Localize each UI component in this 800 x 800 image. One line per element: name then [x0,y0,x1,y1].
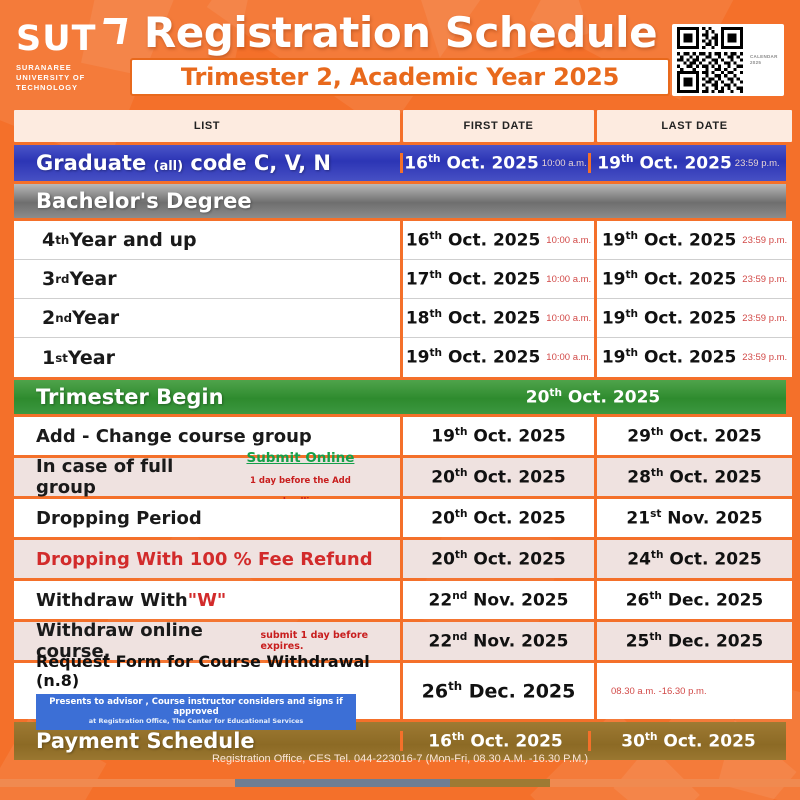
bachelor-year-rows: 4th Year and up16th Oct. 202510:00 a.m.1… [14,221,786,377]
year-first-date: 19th Oct. 202510:00 a.m. [403,338,594,377]
year-last-date: 19th Oct. 202523:59 p.m. [597,338,792,377]
request-form-date-cell: 26th Dec. 2025 [403,663,594,719]
trimester-begin-row: Trimester Begin 20th Oct. 2025 [14,380,786,414]
row-last-date: 24th Oct. 2025 [597,540,792,578]
year-first-date: 18th Oct. 202510:00 a.m. [403,299,594,338]
payment-last-date: 30th Oct. 2025 [591,731,786,752]
schedule-table: LIST FIRST DATE LAST DATE Graduate (all)… [14,110,786,763]
qr-code-block[interactable]: CALENDAR2025 [672,24,784,96]
payment-schedule-label: Payment Schedule [14,729,400,753]
year-first-date: 17th Oct. 202510:00 a.m. [403,260,594,299]
row-label-cell: In case of full groupSubmit Online1 day … [14,458,400,496]
row-label: Dropping Period [36,508,202,529]
submit-online-link[interactable]: Submit Online [246,450,354,466]
year-last-date: 19th Oct. 202523:59 p.m. [597,221,792,260]
request-form-label-cell: Request Form for Course Withdrawal (n.8)… [14,663,400,719]
column-header-last-date: LAST DATE [597,110,792,142]
year-label: 2nd Year [14,299,400,338]
sut-logo: SUT SURANAREEUNIVERSITY OFTECHNOLOGY [16,22,126,93]
graduate-row: Graduate (all) code C, V, N 16th Oct. 20… [14,145,786,181]
bottom-bar-segment-4 [550,779,800,787]
row-label-note: submit 1 day before expires. [260,630,400,652]
row-last-date: 26th Dec. 2025 [597,581,792,619]
poster-header: SUT SURANAREEUNIVERSITY OFTECHNOLOGY Reg… [0,0,800,108]
subtitle-bar: Trimester 2, Academic Year 2025 [130,58,670,96]
year-label: 3rd Year [14,260,400,299]
bachelor-year-row: 1st Year19th Oct. 202510:00 a.m.19th Oct… [14,338,786,377]
row-last-date: 25th Dec. 2025 [597,622,792,660]
schedule-row: Withdraw With "W"22nd Nov. 202526th Dec.… [14,581,786,619]
bachelor-degree-label: Bachelor's Degree [14,189,400,213]
row-label-cell: Dropping With 100 % Fee Refund [14,540,400,578]
row-label: In case of full group [36,456,231,498]
page-title: Registration Schedule [128,8,673,57]
request-form-time-cell: 08.30 a.m. -16.30 p.m. [597,663,792,719]
graduate-last-date: 19th Oct. 2025 23:59 p.m. [591,153,786,174]
logo-wordmark: SUT [16,19,97,59]
graduate-first-date: 16th Oct. 2025 10:00 a.m. [400,153,591,174]
table-header-row: LIST FIRST DATE LAST DATE [14,110,786,142]
row-first-date: 20th Oct. 2025 [403,499,594,537]
graduate-label: Graduate (all) code C, V, N [14,151,400,175]
graduate-label-paren: (all) [154,159,184,174]
column-header-list: LIST [14,110,400,142]
graduate-label-rest: code C, V, N [190,151,331,175]
schedule-row: In case of full groupSubmit Online1 day … [14,458,786,496]
year-first-date: 16th Oct. 202510:00 a.m. [403,221,594,260]
row-label-quoted: "W" [188,590,227,611]
year-last-date: 19th Oct. 202523:59 p.m. [597,299,792,338]
row-first-date: 20th Oct. 2025 [403,540,594,578]
bottom-bar-segment-3 [450,779,550,787]
row-first-date: 22nd Nov. 2025 [403,622,594,660]
footer-contact: Registration Office, CES Tel. 044-223016… [0,753,800,765]
request-form-row: Request Form for Course Withdrawal (n.8)… [14,663,786,719]
row-label: Add - Change course group [36,426,312,447]
qr-code-icon[interactable] [675,27,745,93]
row-label: Withdraw With [36,590,188,611]
logo-subtext: SURANAREEUNIVERSITY OFTECHNOLOGY [16,63,126,93]
qr-caption: CALENDAR2025 [750,54,778,66]
bachelor-year-row: 4th Year and up16th Oct. 202510:00 a.m.1… [14,221,786,260]
row-label-cell: Withdraw With "W" [14,581,400,619]
trimester-begin-label: Trimester Begin [14,385,400,409]
row-first-date: 22nd Nov. 2025 [403,581,594,619]
row-first-date: 19th Oct. 2025 [403,417,594,455]
bottom-accent-bar [0,779,800,787]
request-form-banner: Presents to advisor , Course instructor … [36,694,356,730]
graduate-last-time: 23:59 p.m. [735,158,780,169]
row-last-date: 28th Oct. 2025 [597,458,792,496]
subtitle-text: Trimester 2, Academic Year 2025 [181,63,619,91]
bachelor-year-row: 3rd Year17th Oct. 202510:00 a.m.19th Oct… [14,260,786,299]
bottom-bar-segment-1 [0,779,235,787]
schedule-row: Dropping With 100 % Fee Refund20th Oct. … [14,540,786,578]
year-label: 4th Year and up [14,221,400,260]
trimester-begin-date: 20th Oct. 2025 [400,387,786,408]
bachelor-degree-header: Bachelor's Degree [14,184,786,218]
request-form-time: 08.30 a.m. -16.30 p.m. [611,686,707,697]
schedule-row: Dropping Period20th Oct. 202521st Nov. 2… [14,499,786,537]
year-last-date: 19th Oct. 202523:59 p.m. [597,260,792,299]
row-last-date: 21st Nov. 2025 [597,499,792,537]
registration-schedule-poster: SUT SURANAREEUNIVERSITY OFTECHNOLOGY Reg… [0,0,800,800]
graduate-first-time: 10:00 a.m. [542,158,587,169]
request-form-banner-line2: at Registration Office, The Center for E… [42,717,350,726]
request-form-banner-line1: Presents to advisor , Course instructor … [42,697,350,717]
year-label: 1st Year [14,338,400,377]
schedule-rows: Add - Change course group19th Oct. 20252… [14,417,786,660]
schedule-row: Add - Change course group19th Oct. 20252… [14,417,786,455]
logo-corner-icon [100,18,128,44]
graduate-label-main: Graduate [36,151,146,175]
bottom-bar-segment-2 [235,779,450,787]
logo-mark: SUT [16,22,126,58]
row-label-cell: Dropping Period [14,499,400,537]
row-label: Dropping With 100 % Fee Refund [36,549,373,570]
row-first-date: 20th Oct. 2025 [403,458,594,496]
request-form-title: Request Form for Course Withdrawal (n.8) [36,652,400,690]
row-last-date: 29th Oct. 2025 [597,417,792,455]
column-header-first-date: FIRST DATE [403,110,594,142]
payment-first-date: 16th Oct. 2025 [400,731,591,752]
bachelor-year-row: 2nd Year18th Oct. 202510:00 a.m.19th Oct… [14,299,786,338]
